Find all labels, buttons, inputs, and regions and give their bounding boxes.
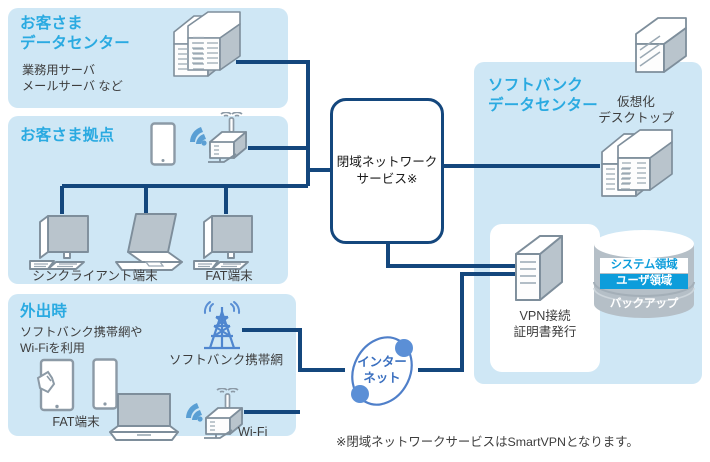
label-fat-terminal-mobile: FAT端末 (36, 414, 116, 430)
panel-subtitle-customer-datacenter: 業務用サーバ メールサーバ など (22, 62, 192, 94)
laptop-icon (110, 212, 188, 274)
label-internet: インター ネット (346, 354, 418, 386)
tablet-touch-icon (36, 358, 78, 414)
storage-rack-icon (632, 16, 690, 78)
desktop-thin-client-icon (26, 212, 100, 274)
laptop-mobile-icon (106, 392, 182, 448)
panel-title-customer-datacenter: お客さま データセンター (20, 14, 190, 54)
storage-band-backup: バックアップ (600, 296, 688, 311)
footnote: ※閉域ネットワークサービスはSmartVPNとなります。 (336, 432, 639, 450)
label-thin-client: シンクライアント端末 (20, 268, 170, 284)
closed-network-box[interactable]: 閉域ネットワーク サービス※ (330, 98, 444, 244)
label-vpn-server: VPN接続 証明書発行 (494, 308, 596, 341)
virtual-desktop-rack-icon (596, 128, 676, 204)
network-diagram: 閉域ネットワーク サービス※ お客さま データセンター 業務用サーバ メールサー… (0, 0, 710, 462)
desktop-fat-terminal-icon (190, 212, 264, 274)
vpn-server-icon (510, 234, 568, 306)
panel-title-customer-site: お客さま拠点 (20, 126, 210, 146)
storage-band-user: ユーザ領域 (600, 274, 688, 289)
label-virtual-desktop: 仮想化 デスクトップ (586, 94, 686, 127)
closed-network-label: 閉域ネットワーク サービス※ (333, 154, 441, 188)
label-fat-terminal-site: FAT端末 (186, 268, 272, 284)
cell-tower-icon (196, 300, 248, 352)
label-wifi-mobile: Wi-Fi (238, 424, 294, 440)
label-cell-tower: ソフトバンク携帯網 (152, 352, 300, 368)
panel-title-mobile: 外出時 (20, 302, 190, 322)
storage-band-system: システム領域 (600, 258, 688, 273)
